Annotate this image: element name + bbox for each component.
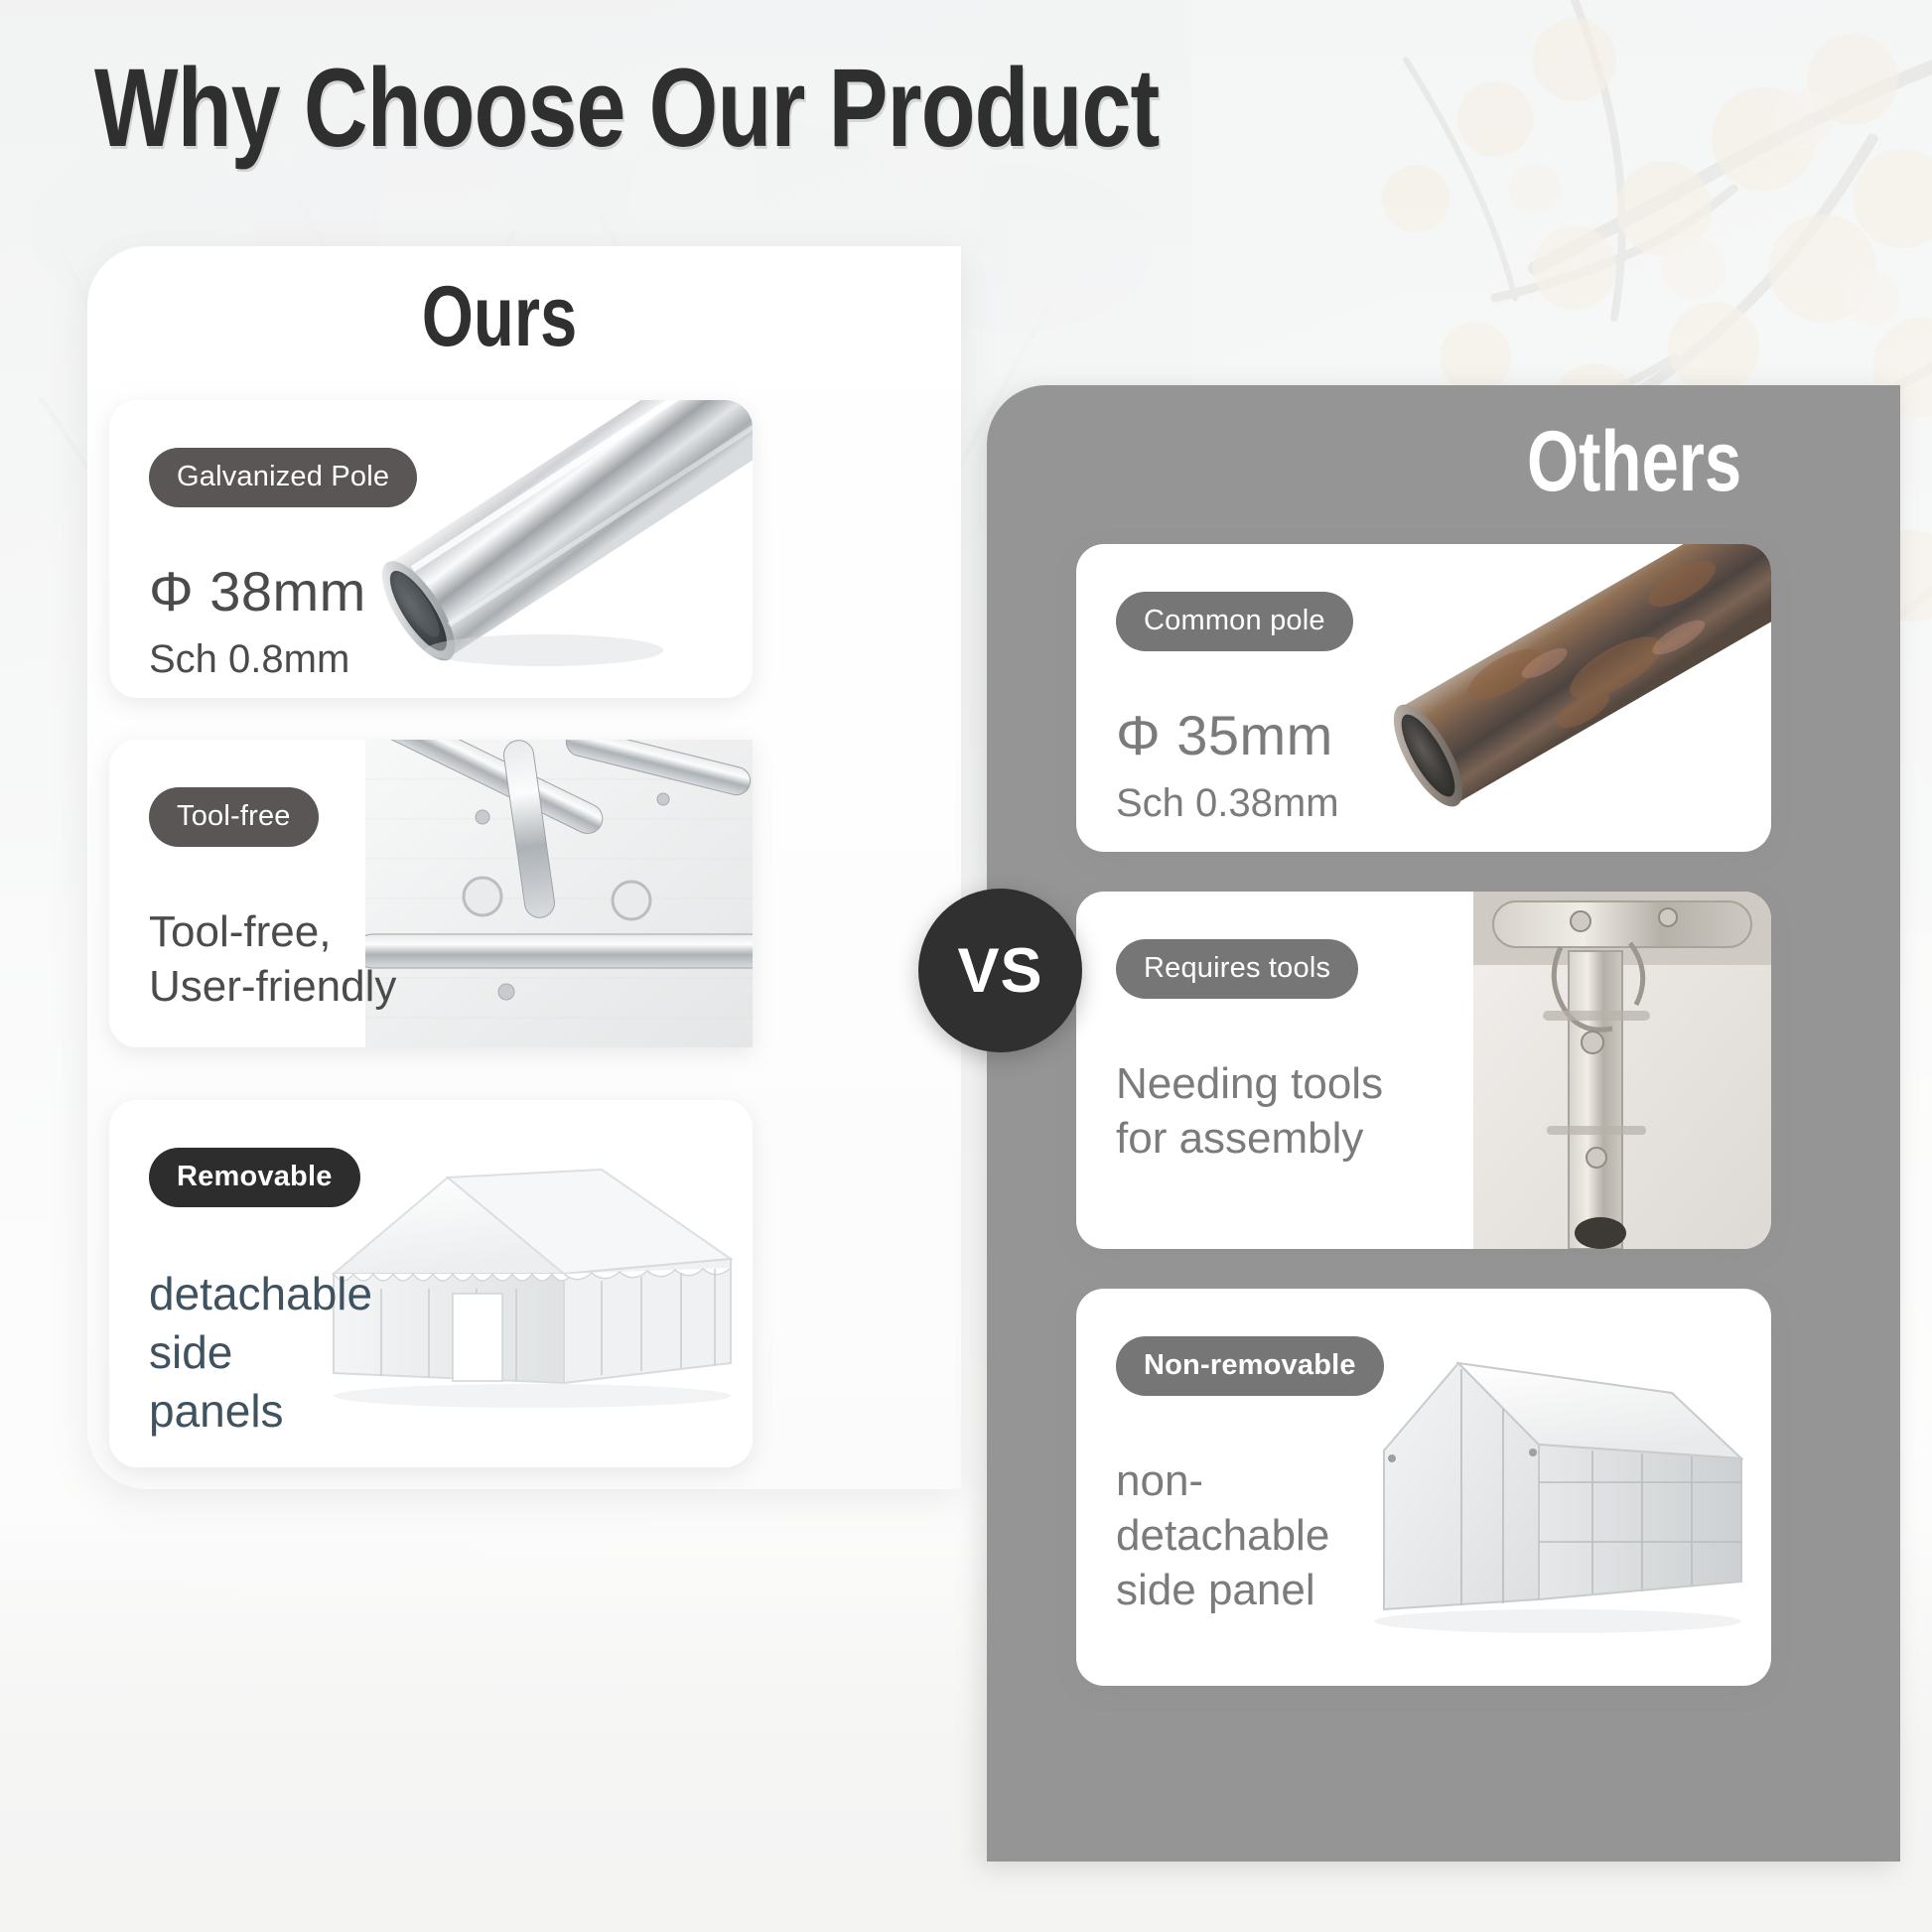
tent-frame-joint-image xyxy=(365,740,753,1047)
ours-card-tool-free[interactable]: Tool-free Tool-free, User-friendly xyxy=(109,740,753,1047)
ours-card-galvanized-pole[interactable]: Galvanized Pole Φ 38mm Sch 0.8mm xyxy=(109,400,753,698)
others-feature-non-removable-text: non- detachable side panel xyxy=(1116,1453,1384,1617)
others-card-common-pole[interactable]: Common pole Φ 35mm Sch 0.38mm xyxy=(1076,544,1771,852)
others-heading: Others xyxy=(1527,413,1741,511)
others-badge-non-removable: Non-removable xyxy=(1116,1336,1384,1396)
fixed-panel-carport-image xyxy=(1344,1333,1761,1651)
others-panel: Others xyxy=(987,385,1900,1862)
bolted-joint-image xyxy=(1473,892,1771,1249)
ours-badge-removable: Removable xyxy=(149,1148,360,1207)
others-feature-requires-tools-text: Needing tools for assembly xyxy=(1116,1056,1383,1166)
ours-spec-thickness: Sch 0.8mm xyxy=(149,637,417,682)
ours-feature-removable-text: detachable side panels xyxy=(149,1265,372,1441)
ours-card-removable[interactable]: Removable detachable side panels xyxy=(109,1100,753,1467)
rusty-pole-image xyxy=(1368,544,1771,828)
ours-panel: Ours xyxy=(87,246,961,1489)
vs-label: VS xyxy=(957,935,1042,1007)
others-spec-thickness: Sch 0.38mm xyxy=(1116,781,1353,826)
page-title: Why Choose Our Product xyxy=(94,52,1160,165)
ours-badge-tool-free: Tool-free xyxy=(149,787,319,847)
ours-feature-tool-free-text: Tool-free, User-friendly xyxy=(149,904,396,1014)
others-card-requires-tools[interactable]: Requires tools Needing tools for assembl… xyxy=(1076,892,1771,1249)
others-spec-diameter: Φ 35mm xyxy=(1116,703,1353,767)
others-badge-requires-tools: Requires tools xyxy=(1116,939,1358,999)
ours-heading: Ours xyxy=(178,268,820,366)
others-card-non-removable[interactable]: Non-removable non- detachable side panel xyxy=(1076,1289,1771,1686)
ours-spec-diameter: Φ 38mm xyxy=(149,559,417,623)
ours-badge-galvanized-pole: Galvanized Pole xyxy=(149,448,417,507)
others-badge-common-pole: Common pole xyxy=(1116,592,1353,651)
vs-badge: VS xyxy=(918,889,1082,1052)
